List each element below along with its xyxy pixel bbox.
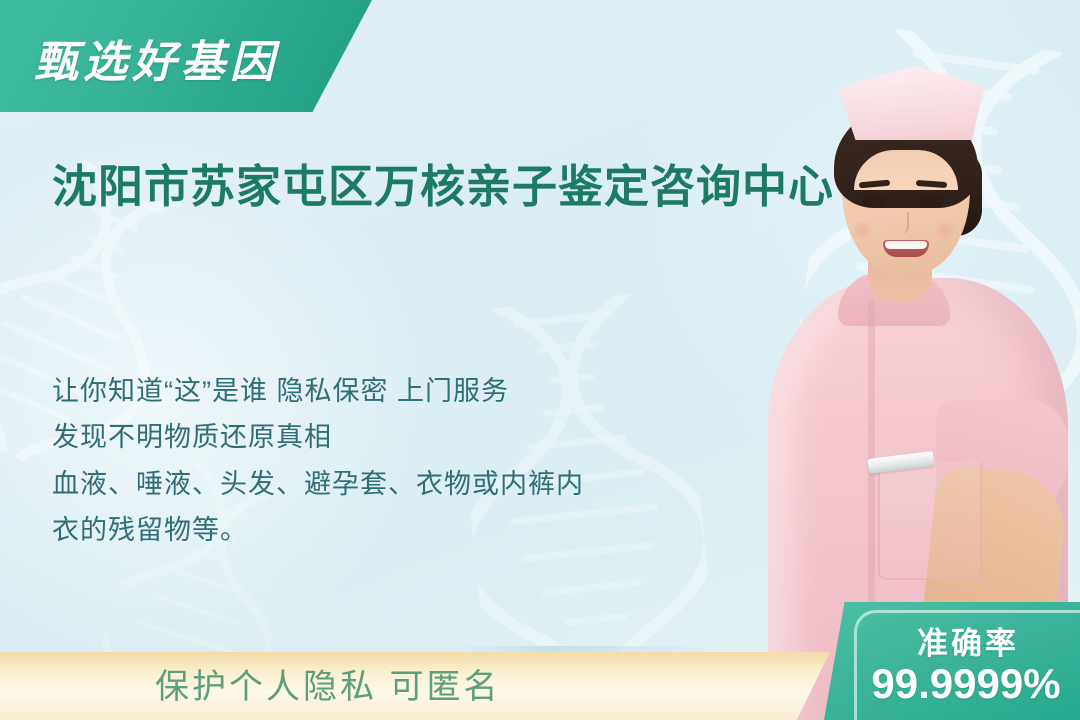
body-copy-line-2: 发现不明物质还原真相 [52, 414, 752, 460]
body-copy-line-4: 衣的残留物等。 [52, 507, 752, 553]
nurse-cheek-right [932, 222, 958, 238]
promo-poster: 甄选好基因 沈阳市苏家屯区万核亲子鉴定咨询中心 让你知道“这”是谁 隐私保密 上… [0, 0, 1080, 720]
divider-strip [450, 646, 710, 652]
nurse-eye-left [862, 196, 887, 207]
logo-banner-content: 甄选好基因 [0, 0, 372, 112]
body-copy: 让你知道“这”是谁 隐私保密 上门服务 发现不明物质还原真相 血液、唾液、头发、… [52, 368, 752, 554]
nurse-eye-right [918, 196, 943, 207]
nurse-cap [838, 66, 984, 140]
body-copy-line-3: 血液、唾液、头发、避孕套、衣物或内裤内 [52, 461, 752, 507]
nurse-nose [897, 212, 909, 234]
logo-text: 甄选好基因 [34, 26, 279, 90]
accuracy-label: 准确率 [878, 618, 1058, 663]
nurse-cheek-left [850, 222, 876, 238]
accuracy-badge-content: 准确率 99.9999% [824, 602, 1080, 720]
body-copy-line-1: 让你知道“这”是谁 隐私保密 上门服务 [52, 368, 752, 414]
nurse-teeth [885, 241, 927, 249]
nurse-mouth [883, 240, 929, 257]
accuracy-value: 99.9999% [854, 660, 1078, 708]
bottom-banner-text: 保护个人隐私 可匿名 [155, 659, 500, 708]
nurse-pocket [878, 462, 982, 580]
page-title: 沈阳市苏家屯区万核亲子鉴定咨询中心 [52, 158, 852, 217]
